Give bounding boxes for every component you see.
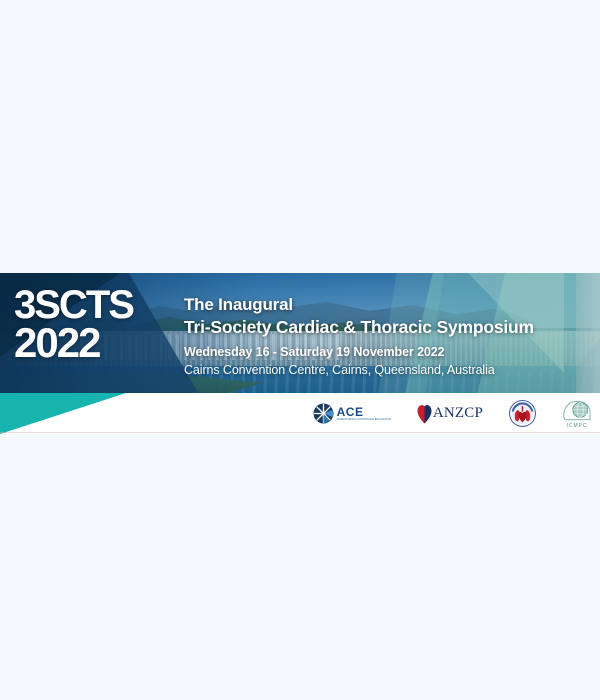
event-title-line-2: Tri-Society Cardiac & Thoracic Symposium <box>184 317 534 338</box>
logo-ace[interactable]: ACE ANAESTHESIA CONTINUING EDUCATION <box>313 399 391 429</box>
sponsor-logo-strip: ACE ANAESTHESIA CONTINUING EDUCATION ANZ… <box>0 393 600 434</box>
logo-ace-acronym: ACE <box>337 406 391 418</box>
logo-globe[interactable]: ICMPC <box>562 399 592 429</box>
event-title-line-1: The Inaugural <box>184 295 534 315</box>
logo-anzcp-acronym: ANZCP <box>433 405 483 422</box>
teal-accent-triangle <box>0 393 126 434</box>
banner-bottom-hairline <box>0 432 600 433</box>
lockup-line-2: 2022 <box>14 324 133 363</box>
page-root: 3SCTS 2022 The Inaugural Tri-Society Car… <box>0 0 600 700</box>
logo-anzcp[interactable]: ANZCP <box>417 399 483 429</box>
event-dates: Wednesday 16 - Saturday 19 November 2022 <box>184 345 534 359</box>
event-banner[interactable]: 3SCTS 2022 The Inaugural Tri-Society Car… <box>0 273 600 434</box>
heart-icon <box>417 404 432 424</box>
event-copy-block: The Inaugural Tri-Society Cardiac & Thor… <box>184 295 534 377</box>
logo-globe-acronym: ICMPC <box>566 423 587 429</box>
sponsor-logo-row: ACE ANAESTHESIA CONTINUING EDUCATION ANZ… <box>313 393 592 434</box>
logo-ace-subtext: ANAESTHESIA CONTINUING EDUCATION <box>337 419 391 422</box>
logo-heart-lung-roundel[interactable] <box>509 399 536 429</box>
event-lockup: 3SCTS 2022 <box>14 287 133 362</box>
circular-spoke-icon <box>313 403 334 424</box>
heart-lung-roundel-icon <box>509 400 536 427</box>
globe-icon <box>562 399 592 422</box>
logo-ace-text: ACE ANAESTHESIA CONTINUING EDUCATION <box>337 406 391 422</box>
event-venue: Cairns Convention Centre, Cairns, Queens… <box>184 363 534 377</box>
